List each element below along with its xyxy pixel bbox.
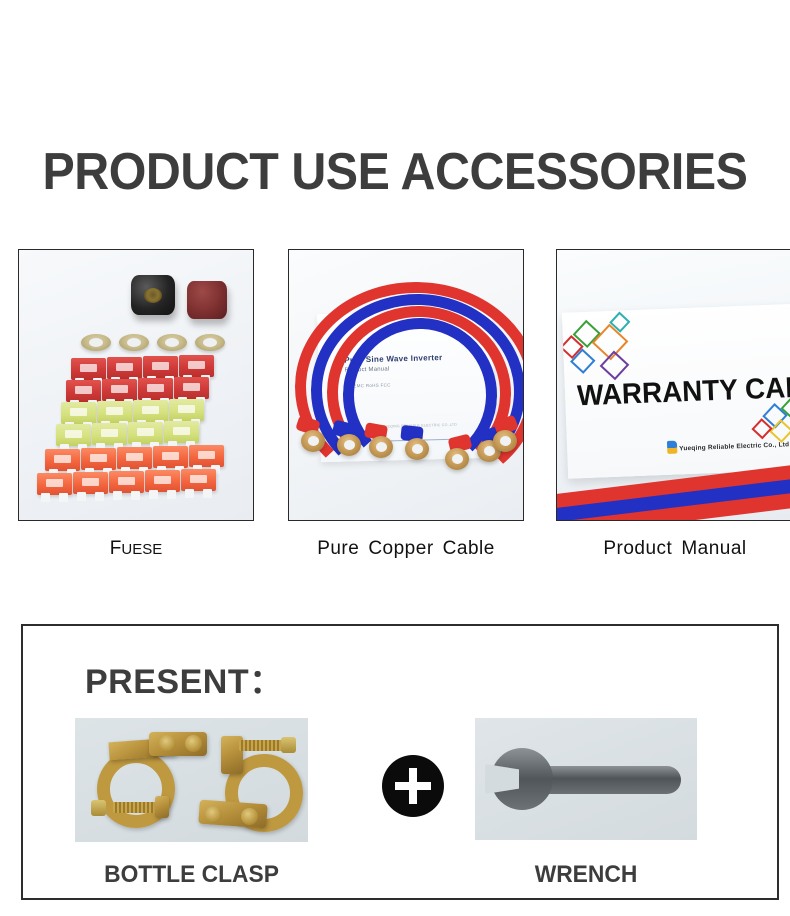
- page-title: PRODUCT USE ACCESSORIES: [28, 142, 763, 202]
- company-logo-icon: [667, 441, 677, 454]
- bottle-clasp-photo: [75, 718, 308, 842]
- clamp-bolt: [239, 740, 283, 751]
- warranty-card: WARRANTY CARD Yueqing Reliable Electric …: [562, 303, 790, 478]
- blade-fuse: [179, 355, 214, 377]
- ring-terminal: [405, 438, 429, 460]
- blade-fuse: [138, 378, 173, 400]
- brass-washer: [195, 334, 225, 351]
- clamp-screw: [159, 735, 176, 752]
- clamp-nut: [281, 737, 296, 753]
- caption-pure-copper-cable: PureCopperCable: [288, 538, 524, 560]
- ring-terminal: [493, 430, 517, 452]
- warranty-card-company: Yueqing Reliable Electric Co., Ltd: [679, 441, 789, 452]
- blade-fuse: [128, 422, 163, 444]
- caption-word: Pure: [317, 538, 359, 559]
- blade-fuse: [73, 472, 108, 494]
- blade-fuse: [117, 447, 152, 469]
- ring-terminal: [369, 436, 393, 458]
- blade-fuse: [37, 473, 72, 495]
- blade-fuse: [133, 400, 168, 422]
- brass-washer: [119, 334, 149, 351]
- wrench-photo: [475, 718, 697, 840]
- blade-fuse: [169, 399, 204, 421]
- blade-fuse: [56, 424, 91, 446]
- clamp-bolt: [113, 802, 159, 813]
- wrench-handle: [531, 766, 681, 794]
- fuse-assortment-photo: [18, 249, 254, 521]
- battery-clamp-foot: [155, 796, 169, 818]
- ring-terminal: [301, 430, 325, 452]
- wrench-label: WRENCH: [481, 861, 692, 889]
- product-manual-photo: WARRANTY CARD Yueqing Reliable Electric …: [556, 249, 790, 521]
- caption-word: Product: [603, 538, 672, 559]
- blade-fuse: [109, 471, 144, 493]
- red-cap: [187, 281, 227, 319]
- blade-fuse: [153, 446, 188, 468]
- blade-fuse: [107, 357, 142, 379]
- caption-word: Manual: [681, 538, 746, 559]
- blade-fuse: [102, 379, 137, 401]
- caption-lead-letter: F: [110, 538, 122, 559]
- brass-washer: [157, 334, 187, 351]
- brass-washer: [81, 334, 111, 351]
- caption-word: Copper: [368, 538, 433, 559]
- blade-fuse: [66, 380, 101, 402]
- blade-fuse: [143, 356, 178, 378]
- bottle-clasp-label: BOTTLE CLASP: [81, 861, 302, 889]
- ring-terminal: [337, 434, 361, 456]
- caption-product-manual: ProductManual: [556, 538, 790, 560]
- clamp-screw: [205, 806, 222, 823]
- blade-fuse: [145, 470, 180, 492]
- black-knob: [131, 275, 175, 315]
- blade-fuse: [97, 401, 132, 423]
- plus-separator-icon: [382, 755, 444, 817]
- clamp-screw: [241, 808, 258, 825]
- caption-fuese: FUESE: [18, 538, 254, 560]
- clamp-nut: [91, 800, 106, 816]
- clamp-screw: [185, 735, 202, 752]
- blade-fuse: [61, 402, 96, 424]
- caption-word: Cable: [443, 538, 495, 559]
- blade-fuse: [92, 423, 127, 445]
- blade-fuse: [45, 449, 80, 471]
- present-title: PRESENT：: [85, 654, 284, 703]
- blade-fuse: [71, 358, 106, 380]
- blade-fuse: [164, 421, 199, 443]
- accessory-photo-row: Pure Sine Wave Inverter Product Manual C…: [0, 249, 790, 524]
- caption-rest-letters: UESE: [121, 541, 162, 558]
- warranty-card-title: WARRANTY CARD: [577, 371, 790, 414]
- blade-fuse: [189, 445, 224, 467]
- blade-fuse: [174, 377, 209, 399]
- blade-fuse: [181, 469, 216, 491]
- copper-cable-photo: Pure Sine Wave Inverter Product Manual C…: [288, 249, 524, 521]
- ring-terminal: [445, 448, 469, 470]
- blade-fuse: [81, 448, 116, 470]
